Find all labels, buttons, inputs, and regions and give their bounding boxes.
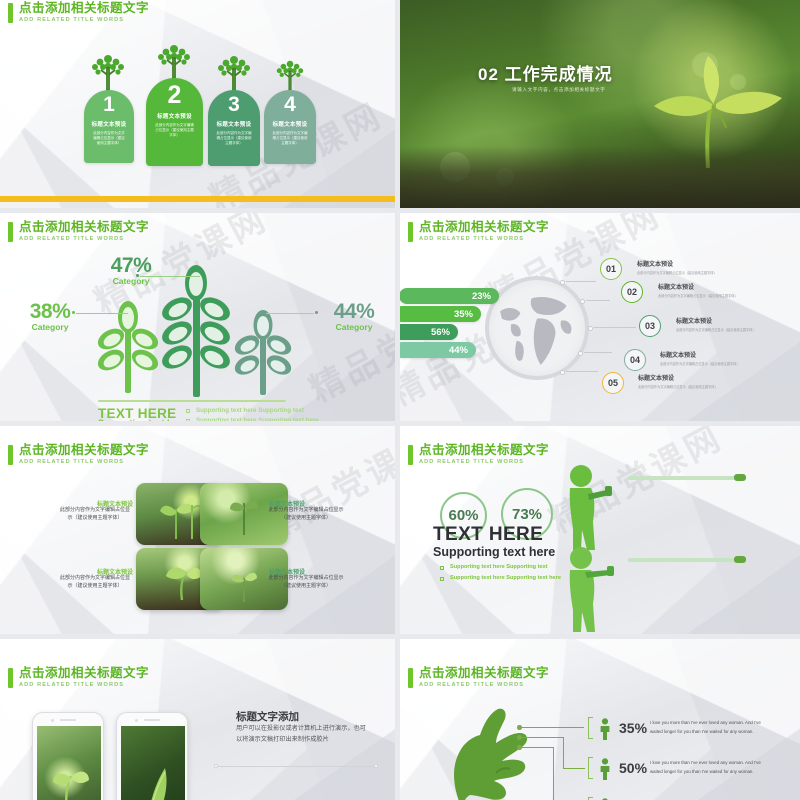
step-number: 3: [208, 94, 260, 116]
header-accent-bar: [8, 222, 13, 242]
supporting-text: Supporting text here: [98, 418, 186, 421]
step-desc: 此部分内容作为文字编辑占位显示（建议使用主题字体）: [216, 131, 251, 146]
step-desc: 此部分内容作为文字编辑占位显示（建议使用主题字体）: [92, 131, 126, 146]
step-card-3[interactable]: 3 标题文本预设 此部分内容作为文字编辑占位显示（建议使用主题字体）: [208, 90, 260, 166]
connector-dot-2: [517, 735, 522, 740]
bullet-square: [440, 566, 444, 570]
list-number-02[interactable]: 02: [621, 281, 643, 303]
block-desc-2: 此部分内容作为文字编辑占位显示（建议使用主题字体）: [265, 507, 347, 523]
list-title-05: 标题文本预设: [638, 373, 674, 382]
stat-bar-56: 56%: [400, 324, 458, 340]
stat-pct-1: 35%: [619, 720, 647, 736]
header-accent-bar: [408, 445, 413, 465]
header-title-en: ADD RELATED TITLE WORDS: [419, 237, 549, 243]
person-icon-1: [598, 718, 612, 740]
spray-line-2: [628, 558, 738, 562]
list-number-03[interactable]: 03: [639, 315, 661, 337]
slide-7-header: 点击添加相关标题文字 ADD RELATED TITLE WORDS: [8, 667, 149, 688]
slide-5-photo-grid[interactable]: 精品党课网 点击添加相关标题文字 ADD RELATED TITLE WORDS: [0, 426, 395, 634]
leader-dot-44: [315, 311, 318, 314]
tree-icon-1: [85, 48, 131, 94]
bullet-text: Supporting text here Supporting text: [196, 407, 304, 414]
chart-value: 47%: [96, 254, 166, 278]
connector-line: [584, 352, 612, 353]
header-title-en: ADD RELATED TITLE WORDS: [19, 683, 149, 689]
section-number: 02: [478, 65, 499, 84]
stat-bar-label: 35%: [454, 309, 473, 320]
slide-6-header: 点击添加相关标题文字 ADD RELATED TITLE WORDS: [408, 444, 549, 465]
step-title: 标题文本预设: [264, 120, 316, 128]
slide-2-section-cover[interactable]: 02 工作完成情况 请输入文字内容，点击添加相关标题文字: [400, 0, 800, 208]
connector-dot-1: [517, 725, 522, 730]
slide-4-globe-list[interactable]: 精品党课网 精品党课网 点击添加相关标题文字 ADD RELATED TITLE…: [400, 213, 800, 421]
supporting-text: Supporting text here: [433, 545, 555, 559]
bracket-2: [588, 757, 593, 779]
leader-line-47: [140, 276, 200, 277]
step-card-1[interactable]: 1 标题文本预设 此部分内容作为文字编辑占位显示（建议使用主题字体）: [84, 90, 134, 163]
phone-speaker-icon: [60, 719, 76, 721]
section-subtitle: 请输入文字内容，点击添加相关标题文字: [512, 87, 606, 93]
chart-category: Category: [96, 276, 166, 286]
globe-knob: [588, 326, 593, 331]
slide-1-header: 点击添加相关标题文字 ADD RELATED TITLE WORDS: [8, 2, 149, 23]
leader-line-38: [76, 313, 128, 314]
connector-line: [586, 300, 610, 301]
header-accent-bar: [408, 222, 413, 242]
list-desc-02: 此部分内容作为文字编辑占位显示（建议使用主题字体）: [658, 294, 800, 299]
globe-graphic: [485, 276, 589, 380]
spray-line-1: [628, 476, 738, 480]
leader-line-44: [266, 313, 314, 314]
list-desc-01: 此部分内容作为文字编辑占位显示（建议使用主题字体）: [637, 271, 797, 276]
list-title-02: 标题文本预设: [658, 282, 694, 291]
list-desc-04: 此部分内容作为文字编辑占位显示（建议使用主题字体）: [660, 362, 800, 367]
list-title-03: 标题文本预设: [676, 316, 712, 325]
phone-mockup-2[interactable]: [116, 712, 188, 800]
chart-category: Category: [318, 322, 390, 332]
chart-label-44: 44% Category: [318, 300, 390, 332]
tree-icon-4: [271, 55, 309, 93]
soil-layer: [400, 146, 800, 208]
chart-label-38: 38% Category: [13, 300, 87, 332]
stat-text-1: I love you more than I've ever loved any…: [650, 718, 770, 737]
stat-bar-label: 23%: [472, 291, 491, 302]
phone-camera-icon: [51, 719, 54, 722]
section-underline: [98, 400, 286, 402]
list-number-05[interactable]: 05: [602, 372, 624, 394]
step-title: 标题文本预设: [146, 112, 203, 120]
header-accent-bar: [8, 3, 13, 23]
stat-bar-label: 44%: [449, 345, 468, 356]
phone-section-title: 标题文字添加: [236, 709, 299, 724]
step-number: 4: [264, 94, 316, 116]
leader-dot-38: [72, 311, 75, 314]
header-title-en: ADD RELATED TITLE WORDS: [19, 18, 149, 24]
chart-value: 44%: [318, 300, 390, 324]
text-here-heading: TEXT HERE: [433, 524, 543, 546]
phone-mockup-1[interactable]: [32, 712, 104, 800]
connector-dot-3: [517, 745, 522, 750]
step-card-4[interactable]: 4 标题文本预设 此部分内容作为文字编辑占位显示（建议使用主题字体）: [264, 90, 316, 164]
block-desc-4: 此部分内容作为文字编辑占位显示（建议使用主题字体）: [265, 575, 347, 591]
leader-dot-47: [136, 274, 139, 277]
rule-dot-left: [214, 764, 218, 768]
header-title-en: ADD RELATED TITLE WORDS: [419, 683, 549, 689]
connector-line: [566, 281, 596, 282]
bracket-1: [588, 717, 593, 739]
stat-pct-2: 50%: [619, 760, 647, 776]
hand-icon: [440, 699, 544, 800]
chart-category: Category: [13, 322, 87, 332]
slide-deck-preview: 精品党课网 点击添加相关标题文字 ADD RELATED TITLE WORDS: [0, 0, 800, 800]
slide-4-header: 点击添加相关标题文字 ADD RELATED TITLE WORDS: [408, 221, 549, 242]
stat-bar-23: 23%: [400, 288, 499, 304]
connector-line-2b: [563, 768, 585, 769]
section-heading: 02 工作完成情况: [478, 60, 613, 85]
phone-speaker-icon: [144, 719, 160, 721]
connector-elbow-3: [553, 747, 554, 800]
header-title-en: ADD RELATED TITLE WORDS: [419, 460, 549, 466]
list-title-01: 标题文本预设: [637, 259, 673, 268]
tree-icon-3: [211, 49, 257, 95]
wheat-icon-2: [160, 259, 232, 399]
spray-tip-2: [734, 556, 746, 563]
header-accent-bar: [8, 445, 13, 465]
stat-text-2: I love you more than I've ever loved any…: [650, 758, 770, 777]
slide-8-hand-stats[interactable]: 点击添加相关标题文字 ADD RELATED TITLE WORDS: [400, 639, 800, 800]
bullet-text: Supporting text here Supporting text her…: [196, 417, 319, 421]
phone-camera-icon: [135, 719, 138, 722]
chart-value: 38%: [13, 300, 87, 324]
bullet-text: Supporting text here Supporting text: [450, 564, 548, 570]
step-card-2[interactable]: 2 标题文本预设 此部分内容作为文字编辑占位显示（建议使用主题字体）: [146, 78, 203, 166]
header-title-en: ADD RELATED TITLE WORDS: [19, 460, 149, 466]
connector-line: [566, 371, 598, 372]
block-desc-1: 此部分内容作为文字编辑占位显示（建议使用主题字体）: [58, 507, 132, 523]
horizontal-rule: [216, 766, 376, 767]
phone-screen-1: [37, 726, 101, 800]
person-icon-2: [598, 758, 612, 780]
globe-knob: [560, 370, 565, 375]
world-map-icon: [489, 280, 585, 376]
connector-line-2: [522, 737, 564, 738]
person-spraying-icon-1: [555, 464, 621, 552]
leaf-icon: [121, 726, 185, 800]
gold-divider-bar: [0, 196, 395, 202]
wheat-icon-3: [234, 305, 292, 397]
wheat-icon-1: [96, 295, 160, 395]
phone-section-desc: 用户可以在投影仪或者计算机上进行演示，也可以将演示文稿打印出来制作成胶片: [236, 723, 366, 746]
slide-3-header: 点击添加相关标题文字 ADD RELATED TITLE WORDS: [8, 221, 149, 242]
header-title-cn: 点击添加相关标题文字: [419, 221, 549, 234]
list-number-04[interactable]: 04: [624, 349, 646, 371]
bullet-square: [186, 409, 190, 413]
header-accent-bar: [408, 668, 413, 688]
bullet-square: [440, 577, 444, 581]
rule-dot-right: [374, 764, 378, 768]
slide-7-phone-mockups[interactable]: 点击添加相关标题文字 ADD RELATED TITLE WORDS: [0, 639, 395, 800]
leaf-icon: [37, 726, 101, 800]
chart-label-47: 47% Category: [96, 254, 166, 286]
spray-tip-1: [734, 474, 746, 481]
step-desc: 此部分内容作为文字编辑占位显示（建议使用主题字体）: [272, 131, 307, 146]
stat-bar-label: 56%: [431, 327, 450, 338]
header-title-en: ADD RELATED TITLE WORDS: [19, 237, 149, 243]
connector-elbow-2: [563, 737, 564, 769]
header-accent-bar: [8, 668, 13, 688]
globe-knob: [578, 351, 583, 356]
slide-5-header: 点击添加相关标题文字 ADD RELATED TITLE WORDS: [8, 444, 149, 465]
connector-line-1: [522, 727, 584, 728]
slide-8-header: 点击添加相关标题文字 ADD RELATED TITLE WORDS: [408, 667, 549, 688]
globe-knob: [580, 299, 585, 304]
list-title-04: 标题文本预设: [660, 350, 696, 359]
bullet-text: Supporting text here Supporting text her…: [450, 575, 561, 581]
step-number: 1: [84, 94, 134, 116]
list-desc-05: 此部分内容作为文字编辑占位显示（建议使用主题字体）: [638, 385, 798, 390]
person-spraying-icon-2: [555, 546, 621, 634]
header-title-cn: 点击添加相关标题文字: [419, 444, 549, 457]
list-number-01[interactable]: 01: [600, 258, 622, 280]
list-desc-03: 此部分内容作为文字编辑占位显示（建议使用主题字体）: [676, 328, 800, 333]
header-title-cn: 点击添加相关标题文字: [19, 2, 149, 15]
bullet-square: [186, 419, 190, 421]
slide-1-four-step-trees[interactable]: 精品党课网 点击添加相关标题文字 ADD RELATED TITLE WORDS: [0, 0, 395, 208]
step-number: 2: [146, 82, 203, 108]
phone-screen-2: [121, 726, 185, 800]
block-desc-3: 此部分内容作为文字编辑占位显示（建议使用主题字体）: [58, 575, 132, 591]
connector-line: [594, 327, 636, 328]
header-title-cn: 点击添加相关标题文字: [19, 221, 149, 234]
step-title: 标题文本预设: [84, 120, 134, 128]
connector-line-3: [522, 747, 554, 748]
slide-6-spray-people[interactable]: 精品党课网 点击添加相关标题文字 ADD RELATED TITLE WORDS…: [400, 426, 800, 634]
step-title: 标题文本预设: [208, 120, 260, 128]
slide-3-wheat-chart[interactable]: 精品党课网 精品党课网 点击添加相关标题文字 ADD RELATED TITLE…: [0, 213, 395, 421]
header-title-cn: 点击添加相关标题文字: [19, 667, 149, 680]
section-title: 工作完成情况: [505, 65, 613, 84]
stat-bar-44: 44%: [400, 342, 476, 358]
globe-knob: [560, 280, 565, 285]
stat-bar-35: 35%: [400, 306, 481, 322]
step-desc: 此部分内容作为文字编辑占位显示（建议使用主题字体）: [155, 123, 194, 138]
header-title-cn: 点击添加相关标题文字: [419, 667, 549, 680]
header-title-cn: 点击添加相关标题文字: [19, 444, 149, 457]
